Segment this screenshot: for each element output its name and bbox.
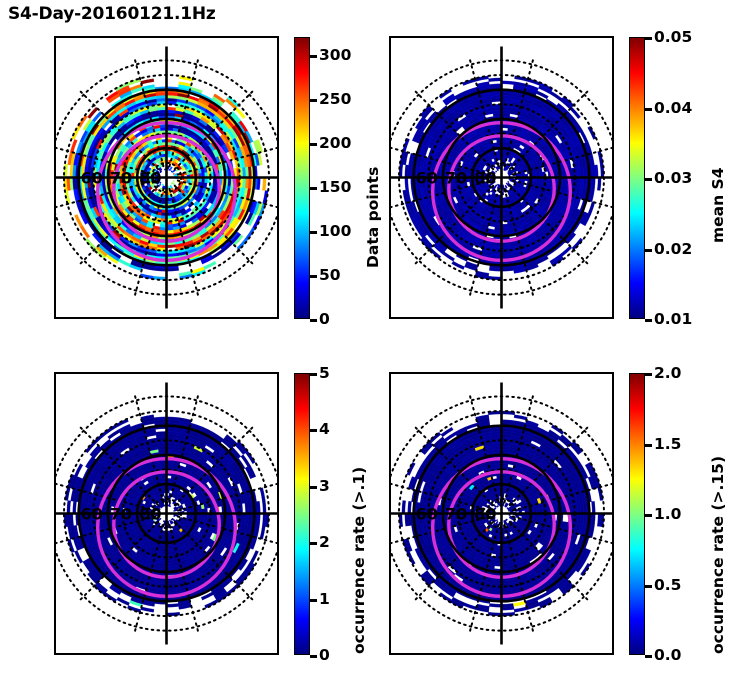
colorbar-tick-label: 0.0: [654, 646, 681, 664]
latitude-label: 80: [139, 169, 161, 188]
colorbar-tick-label: 1.0: [654, 505, 681, 523]
colorbar-tick: [310, 143, 317, 146]
colorbar-occurrence-rate-015: [629, 373, 645, 655]
colorbar-tick-label: 200: [319, 134, 351, 152]
colorbar-tick: [645, 585, 652, 588]
latitude-label: 60: [81, 505, 103, 524]
colorbar-tick: [645, 37, 652, 40]
colorbar-ticks-mean-s4: 0.010.020.030.040.05: [645, 37, 691, 319]
colorbar-tick-label: 0: [319, 646, 330, 664]
panel-top-left[interactable]: 607080: [54, 36, 279, 319]
colorbar-occurrence-rate-01: [294, 373, 310, 655]
polar-svg-top-left: 607080: [56, 38, 277, 317]
colorbar-tick-label: 0.5: [654, 576, 681, 594]
panel-bottom-right[interactable]: 607080: [389, 372, 614, 655]
colorbar-tick-label: 1: [319, 590, 330, 608]
latitude-label: 80: [474, 169, 496, 188]
figure-canvas: S4-Day-20160121.1Hz 607080 0501001502002…: [0, 0, 731, 674]
latitude-label: 70: [445, 169, 467, 188]
colorbar-tick-label: 2.0: [654, 364, 681, 382]
colorbar-tick-label: 0.03: [654, 169, 692, 187]
latitude-label: 60: [416, 505, 438, 524]
latitude-label: 60: [81, 169, 103, 188]
colorbar-tick-label: 150: [319, 178, 351, 196]
latitude-label: 70: [445, 505, 467, 524]
colorbar-title-occurrence-rate-01: occurrence rate (>.1): [350, 467, 368, 654]
colorbar-tick-label: 0.02: [654, 240, 692, 258]
colorbar-tick: [310, 55, 317, 58]
polar-svg-bottom-left: 607080: [56, 374, 277, 653]
colorbar-title-mean-s4: mean S4: [709, 167, 727, 243]
latitude-label: 80: [139, 505, 161, 524]
colorbar-tick-label: 0.05: [654, 28, 692, 46]
polar-svg-top-right: 607080: [391, 38, 612, 317]
colorbar-tick: [645, 108, 652, 111]
colorbar-tick-label: 5: [319, 364, 330, 382]
colorbar-tick-label: 0.04: [654, 99, 692, 117]
colorbar-tick: [310, 486, 317, 489]
colorbar-tick: [310, 231, 317, 234]
colorbar-mean-s4: [629, 37, 645, 319]
colorbar-tick: [645, 514, 652, 517]
latitude-label: 80: [474, 505, 496, 524]
colorbar-ticks-occurrence-rate-015: 0.00.51.01.52.0: [645, 373, 691, 655]
polar-grid: 607080: [56, 47, 277, 309]
panel-top-right[interactable]: 607080: [389, 36, 614, 319]
colorbar-tick: [310, 599, 317, 602]
latitude-label: 70: [110, 505, 132, 524]
colorbar-tick: [310, 99, 317, 102]
latitude-label: 70: [110, 169, 132, 188]
colorbar-tick: [645, 319, 652, 322]
colorbar-tick-label: 300: [319, 46, 351, 64]
colorbar-tick-label: 50: [319, 266, 341, 284]
colorbar-tick: [645, 373, 652, 376]
colorbar-tick-label: 0: [319, 310, 330, 328]
colorbar-tick: [310, 373, 317, 376]
colorbar-tick: [645, 655, 652, 658]
colorbar-tick-label: 4: [319, 420, 330, 438]
figure-title: S4-Day-20160121.1Hz: [8, 4, 216, 24]
colorbar-tick-label: 1.5: [654, 435, 681, 453]
polar-grid: 607080: [56, 383, 277, 645]
colorbar-tick-label: 100: [319, 222, 351, 240]
colorbar-tick: [310, 187, 317, 190]
colorbar-tick: [645, 249, 652, 252]
latitude-label: 60: [416, 169, 438, 188]
colorbar-tick-label: 0.01: [654, 310, 692, 328]
colorbar-tick: [310, 275, 317, 278]
panel-bottom-left[interactable]: 607080: [54, 372, 279, 655]
colorbar-tick: [645, 178, 652, 181]
colorbar-tick: [310, 542, 317, 545]
polar-plot-mean-s4: 607080: [391, 38, 612, 317]
colorbar-tick: [310, 319, 317, 322]
colorbar-title-occurrence-rate-015: occurrence rate (>.15): [709, 456, 727, 654]
colorbar-tick: [645, 444, 652, 447]
colorbar-tick: [310, 655, 317, 658]
polar-grid: 607080: [391, 383, 612, 645]
polar-grid: 607080: [391, 47, 612, 309]
colorbar-ticks-data-points: 050100150200250300: [310, 37, 356, 319]
polar-svg-bottom-right: 607080: [391, 374, 612, 653]
colorbar-data-points: [294, 37, 310, 319]
polar-plot-occurrence-rate-01: 607080: [56, 374, 277, 653]
polar-plot-data-points: 607080: [56, 38, 277, 317]
colorbar-tick-label: 2: [319, 533, 330, 551]
colorbar-tick-label: 250: [319, 90, 351, 108]
colorbar-title-data-points: Data points: [364, 167, 382, 268]
colorbar-tick-label: 3: [319, 477, 330, 495]
colorbar-tick: [310, 429, 317, 432]
polar-plot-occurrence-rate-015: 607080: [391, 374, 612, 653]
